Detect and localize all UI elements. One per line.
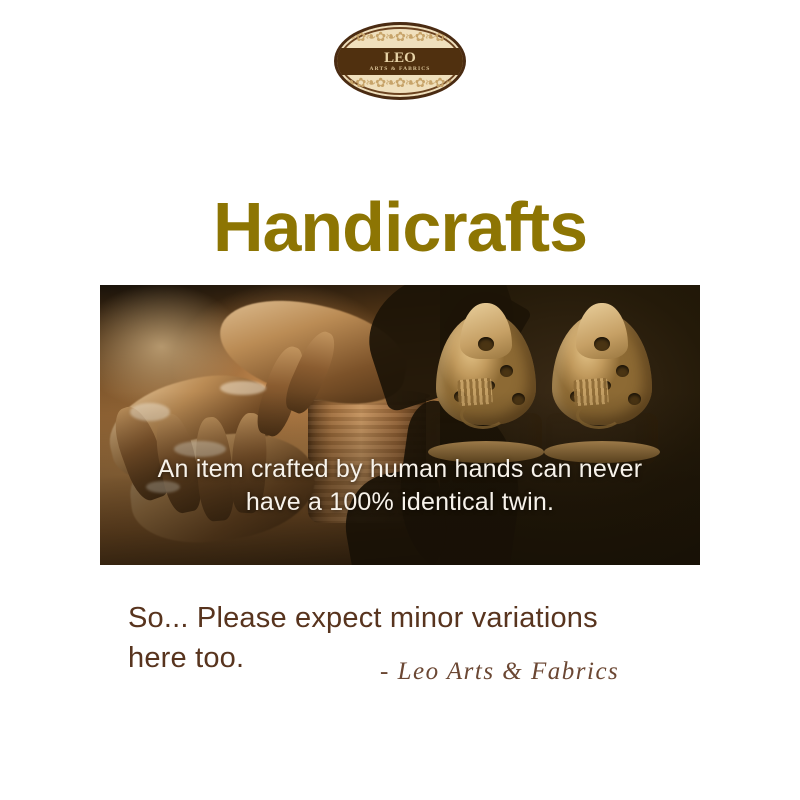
logo-ornament-top-icon: ❧✿❧✿❧✿❧✿❧✿❧: [337, 27, 463, 49]
poster-canvas: ❧✿❧✿❧✿❧✿❧✿❧ ✿ ✿ LEO ARTS & FABRICS ❧✿❧✿❧…: [0, 0, 800, 800]
page-title: Handicrafts: [0, 192, 800, 262]
hero-image: An item crafted by human hands can never…: [100, 285, 700, 565]
logo-subtitle: ARTS & FABRICS: [370, 67, 431, 73]
logo-ornament-bottom-icon: ❧✿❧✿❧✿❧✿❧✿❧: [337, 73, 463, 95]
footer-block: So... Please expect minor variations her…: [128, 598, 688, 678]
brand-logo[interactable]: ❧✿❧✿❧✿❧✿❧✿❧ ✿ ✿ LEO ARTS & FABRICS ❧✿❧✿❧…: [0, 22, 800, 100]
hero-overlay-shade: [100, 285, 700, 565]
logo-oval-frame: ❧✿❧✿❧✿❧✿❧✿❧ ✿ ✿ LEO ARTS & FABRICS ❧✿❧✿❧…: [334, 22, 466, 100]
hero-image-artwork: [100, 285, 700, 565]
logo-center-band: LEO ARTS & FABRICS: [337, 48, 463, 75]
hero-quote: An item crafted by human hands can never…: [140, 453, 660, 519]
brand-signature: - Leo Arts & Fabrics: [380, 658, 619, 686]
logo-monogram: LEO: [384, 51, 416, 66]
